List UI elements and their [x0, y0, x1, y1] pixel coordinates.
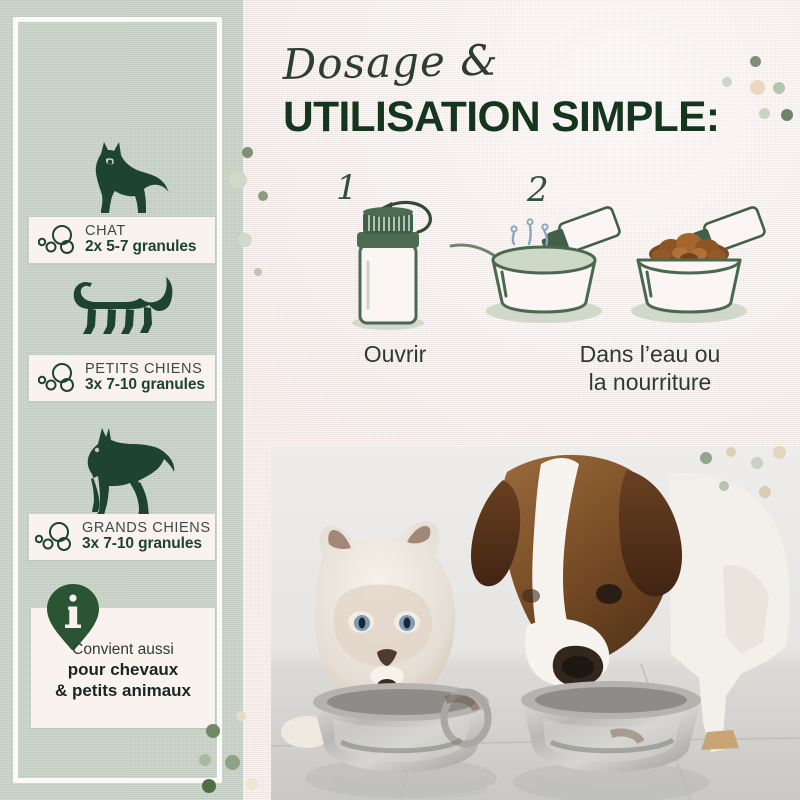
dose-amount: 2x 5-7 granules: [85, 239, 196, 255]
headline-script-line: Dosage &: [282, 35, 719, 86]
dose-amount: 3x 7-10 granules: [85, 377, 205, 393]
decor-dot: [750, 80, 765, 95]
decor-dot: [258, 191, 268, 201]
decor-dot: [773, 446, 786, 459]
granule-bubbles-icon: [38, 361, 80, 395]
decor-dot: [254, 268, 262, 276]
info-text: Convient aussi pour chevaux & petits ani…: [31, 640, 215, 701]
dose-card-cat: CHAT 2x 5-7 granules: [29, 217, 215, 263]
decor-dot: [202, 779, 216, 793]
step-2-caption-line-2: la nourriture: [520, 368, 780, 396]
info-line-1: Convient aussi: [31, 640, 215, 659]
step-2-food-bowl-illustration: [631, 198, 791, 330]
dose-title: CHAT: [85, 224, 196, 239]
infographic-page: CHAT 2x 5-7 granules PETITS CHIENS 3x 7-…: [0, 0, 800, 800]
dose-card-large-dogs: GRANDS CHIENS 3x 7-10 granules: [29, 514, 215, 560]
decor-dot: [759, 486, 771, 498]
dose-title: GRANDS CHIENS: [82, 521, 211, 536]
step-1-bottle-illustration: [330, 190, 460, 340]
dose-amount: 3x 7-10 granules: [82, 536, 211, 552]
decor-dot: [719, 481, 729, 491]
granule-bubbles-icon: [35, 520, 77, 554]
decor-dot: [206, 724, 220, 738]
decor-dot: [246, 778, 258, 790]
info-line-3: & petits animaux: [31, 680, 215, 701]
decor-dot: [236, 711, 246, 721]
decor-dot: [751, 457, 763, 469]
headline-main-line: UTILISATION SIMPLE:: [283, 97, 719, 140]
decor-dot: [238, 233, 252, 247]
cat-silhouette: [78, 140, 170, 218]
step-1-caption: Ouvrir: [295, 340, 495, 368]
decor-dot: [750, 56, 761, 67]
decor-dot: [722, 77, 732, 87]
decor-dot: [700, 452, 712, 464]
step-2-caption: Dans l’eau ou la nourriture: [520, 340, 780, 396]
decor-dot: [781, 109, 793, 121]
dose-title: PETITS CHIENS: [85, 362, 205, 377]
decor-dot: [199, 754, 211, 766]
decor-dot: [726, 447, 736, 457]
info-line-2: pour chevaux: [31, 659, 215, 680]
decor-dot: [759, 108, 770, 119]
dose-card-small-dogs: PETITS CHIENS 3x 7-10 granules: [29, 355, 215, 401]
small-dog-silhouette: [66, 274, 178, 340]
decor-dot: [242, 147, 253, 158]
page-title: Dosage & UTILISATION SIMPLE:: [283, 44, 719, 140]
granule-bubbles-icon: [38, 223, 80, 257]
decor-dot: [225, 755, 240, 770]
dosage-sidebar: CHAT 2x 5-7 granules PETITS CHIENS 3x 7-…: [0, 0, 243, 800]
large-dog-silhouette: [78, 424, 178, 522]
step-2-water-bowl-illustration: [486, 198, 646, 330]
decor-dot: [773, 82, 785, 94]
step-2-caption-line-1: Dans l’eau ou: [520, 340, 780, 368]
decor-dot: [229, 171, 247, 189]
pets-eating-photo: [271, 446, 800, 800]
